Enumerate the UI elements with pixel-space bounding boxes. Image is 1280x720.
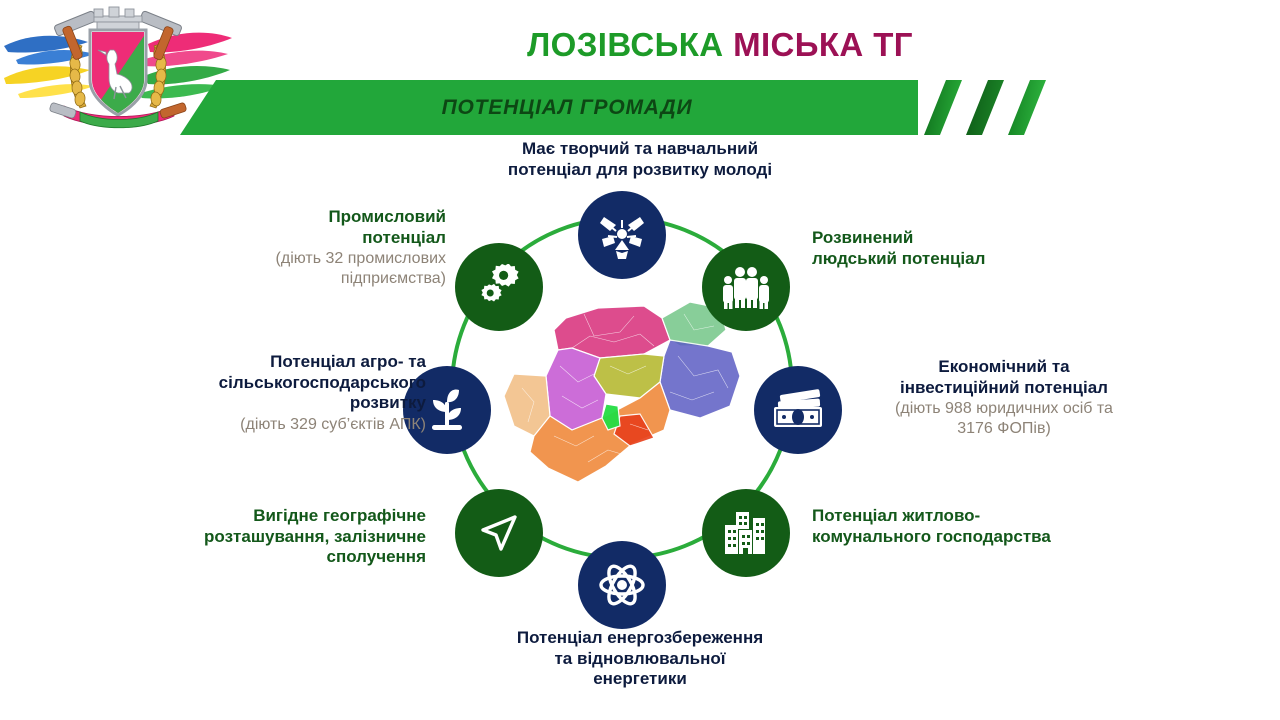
banner-stripe-3 (1008, 80, 1046, 135)
label-energy: Потенціал енергозбереженнята відновлювал… (420, 628, 860, 690)
hromada-map (494, 296, 750, 496)
map-region-west-purple (546, 348, 606, 430)
label-human-head: Розвиненийлюдський потенціал (812, 228, 1142, 269)
label-economy: Економічний таінвестиційний потенціал (д… (824, 357, 1184, 439)
section-banner: ПОТЕНЦІАЛ ГРОМАДИ (180, 80, 1280, 135)
banner-stripe-1 (924, 80, 962, 135)
node-housing-utilities[interactable] (702, 489, 790, 577)
label-industry-head: Промисловийпотенціал (126, 207, 446, 248)
node-energy-saving[interactable] (578, 541, 666, 629)
label-geography-head: Вигідне географічнерозташування, залізни… (116, 506, 426, 568)
label-agro-head: Потенціал агро- тасільськогосподарського… (76, 352, 426, 414)
page-title-second: МІСЬКА ТГ (733, 26, 913, 63)
node-industry-potential[interactable] (455, 243, 543, 331)
map-region-east-blue (660, 340, 740, 418)
banknotes-icon (771, 389, 825, 431)
navigation-arrow-icon (476, 510, 522, 556)
sprout-plant-icon (423, 386, 471, 434)
buildings-icon (722, 510, 770, 556)
label-industry: Промисловийпотенціал (діють 32 промислов… (126, 207, 446, 289)
label-economy-sub: (діють 988 юридичних осіб та3176 ФОПів) (824, 399, 1184, 438)
mural-crown (94, 7, 142, 32)
page-title: ЛОЗІВСЬКА МІСЬКА ТГ (240, 28, 1200, 61)
label-youth-head: Має творчий та навчальнийпотенціал для р… (420, 139, 860, 180)
label-geography: Вигідне географічнерозташування, залізни… (116, 506, 426, 568)
shield (90, 30, 148, 116)
slide-header: ЛОЗІВСЬКА МІСЬКА ТГ ПОТЕНЦІАЛ ГРОМАДИ (0, 0, 1280, 135)
gears-icon (474, 264, 524, 310)
node-youth[interactable] (578, 191, 666, 279)
banner-stripe-2 (966, 80, 1004, 135)
label-economy-head: Економічний таінвестиційний потенціал (824, 357, 1184, 398)
creative-people-icon (596, 209, 648, 261)
page-title-first: ЛОЗІВСЬКА (527, 26, 723, 63)
label-industry-sub: (діють 32 промисловихпідприємства) (126, 249, 446, 288)
label-youth: Має творчий та навчальнийпотенціал для р… (420, 139, 860, 180)
atom-icon (597, 560, 647, 610)
label-housing: Потенціал житлово-комунального господарс… (812, 506, 1172, 547)
section-banner-label: ПОТЕНЦІАЛ ГРОМАДИ (216, 80, 918, 135)
node-geography-rail[interactable] (455, 489, 543, 577)
label-housing-head: Потенціал житлово-комунального господарс… (812, 506, 1172, 547)
label-agro-sub: (діють 329 суб’єктів АПК) (76, 415, 426, 435)
label-agro: Потенціал агро- тасільськогосподарського… (76, 352, 426, 435)
label-energy-head: Потенціал енергозбереженнята відновлювал… (420, 628, 860, 690)
family-group-icon (721, 264, 771, 310)
node-human-potential[interactable] (702, 243, 790, 331)
label-human-potential: Розвиненийлюдський потенціал (812, 228, 1142, 269)
